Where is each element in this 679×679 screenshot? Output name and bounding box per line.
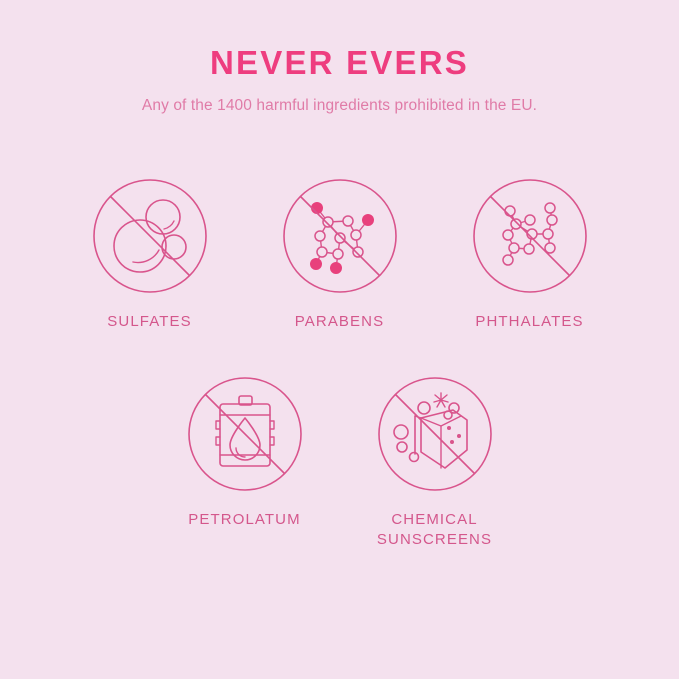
ingredient-item-phthalates: PHTHALATES [465,176,595,332]
ingredient-label: PARABENS [295,312,384,332]
ingredients-row-2: PETROLATUM [0,374,679,550]
ingredient-item-petrolatum: PETROLATUM [180,374,310,550]
ingredients-grid: SULFATES [0,176,679,549]
page-title: NEVER EVERS [0,44,679,82]
ingredient-item-parabens: PARABENS [275,176,405,332]
ingredient-item-sulfates: SULFATES [85,176,215,332]
no-sulfates-bubbles-icon [90,176,210,296]
ingredient-label: PETROLATUM [188,510,300,530]
no-petrolatum-barrel-icon [185,374,305,494]
ingredient-label: PHTHALATES [475,312,583,332]
header: NEVER EVERS Any of the 1400 harmful ingr… [0,0,679,116]
ingredients-row-1: SULFATES [0,176,679,332]
no-phthalates-molecule-icon [470,176,590,296]
no-chemical-sunscreen-icon [375,374,495,494]
ingredient-item-chemical-sunscreens: CHEMICAL SUNSCREENS [370,374,500,550]
ingredient-label: SULFATES [107,312,191,332]
no-parabens-molecule-icon [280,176,400,296]
ingredient-label: CHEMICAL SUNSCREENS [377,510,492,550]
page-subtitle: Any of the 1400 harmful ingredients proh… [0,96,679,116]
never-evers-infographic: NEVER EVERS Any of the 1400 harmful ingr… [0,0,679,679]
